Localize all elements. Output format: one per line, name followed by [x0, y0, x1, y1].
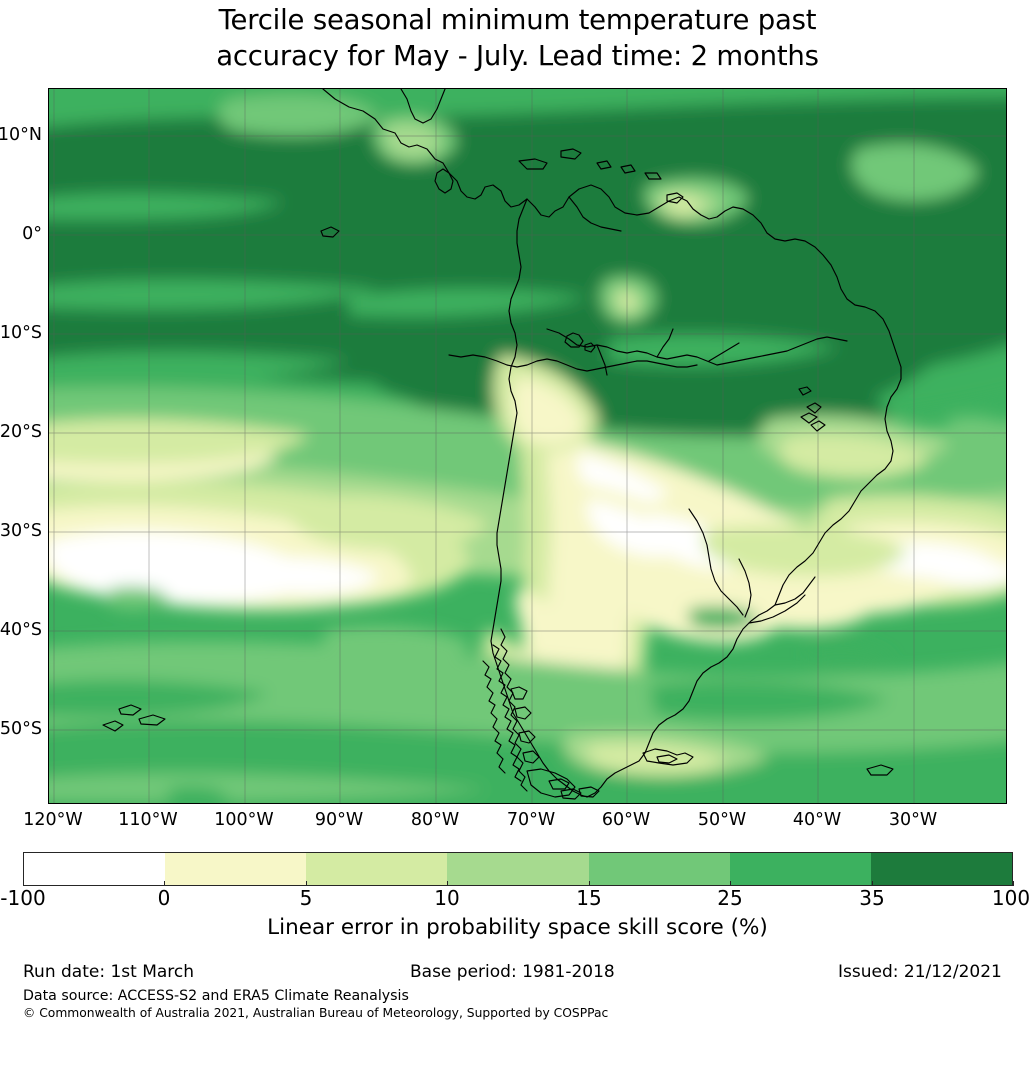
issued-date-text: Issued: 21/12/2021 — [838, 962, 1002, 982]
run-date-text: Run date: 1st March — [23, 962, 194, 982]
colorbar-tick-label: 10 — [434, 886, 459, 910]
colorbar-axis-label: Linear error in probability space skill … — [0, 915, 1035, 940]
x-tick-label: 40°W — [793, 810, 841, 830]
y-tick-label: 50°S — [0, 719, 42, 739]
copyright-text: © Commonwealth of Australia 2021, Austra… — [23, 1006, 608, 1020]
colorbar-tick-label: -100 — [0, 886, 45, 910]
y-tick-label: 20°S — [0, 422, 42, 442]
x-tick-label: 80°W — [411, 810, 459, 830]
colorbar-tick-label: 100 — [992, 886, 1030, 910]
colorbar-tick-label: 5 — [300, 886, 313, 910]
colorbar-segment — [24, 853, 165, 885]
x-tick-label: 70°W — [507, 810, 555, 830]
y-tick-label: 10°S — [0, 323, 42, 343]
colorbar[interactable] — [23, 852, 1013, 886]
colorbar-segment — [871, 853, 1012, 885]
x-tick-label: 60°W — [602, 810, 650, 830]
colorbar-segment — [589, 853, 730, 885]
x-tick-label: 110°W — [118, 810, 177, 830]
colorbar-tick-label: 35 — [859, 886, 884, 910]
x-tick-label: 30°W — [889, 810, 937, 830]
x-tick-label: 120°W — [23, 810, 82, 830]
y-tick-label: 40°S — [0, 620, 42, 640]
colorbar-segment — [165, 853, 306, 885]
base-period-text: Base period: 1981-2018 — [410, 962, 615, 982]
colorbar-tick-label: 25 — [717, 886, 742, 910]
y-tick-label: 0° — [22, 224, 42, 244]
y-tick-label: 10°N — [0, 125, 42, 145]
colorbar-ticks: -100 0 5 10 15 25 35 100 — [0, 886, 1035, 912]
y-tick-label: 30°S — [0, 521, 42, 541]
colorbar-segment — [730, 853, 871, 885]
colorbar-tick-label: 15 — [576, 886, 601, 910]
x-tick-label: 100°W — [214, 810, 273, 830]
page-title: Tercile seasonal minimum temperature pas… — [0, 2, 1035, 74]
skill-score-heatmap — [49, 89, 1006, 803]
x-tick-label: 50°W — [698, 810, 746, 830]
data-source-text: Data source: ACCESS-S2 and ERA5 Climate … — [23, 988, 409, 1004]
footer-metadata-row: Run date: 1st March Base period: 1981-20… — [0, 962, 1035, 984]
colorbar-tick-label: 0 — [158, 886, 171, 910]
colorbar-segment — [306, 853, 447, 885]
map-plot-area[interactable] — [48, 88, 1007, 804]
colorbar-segment — [447, 853, 588, 885]
x-tick-label: 90°W — [315, 810, 363, 830]
